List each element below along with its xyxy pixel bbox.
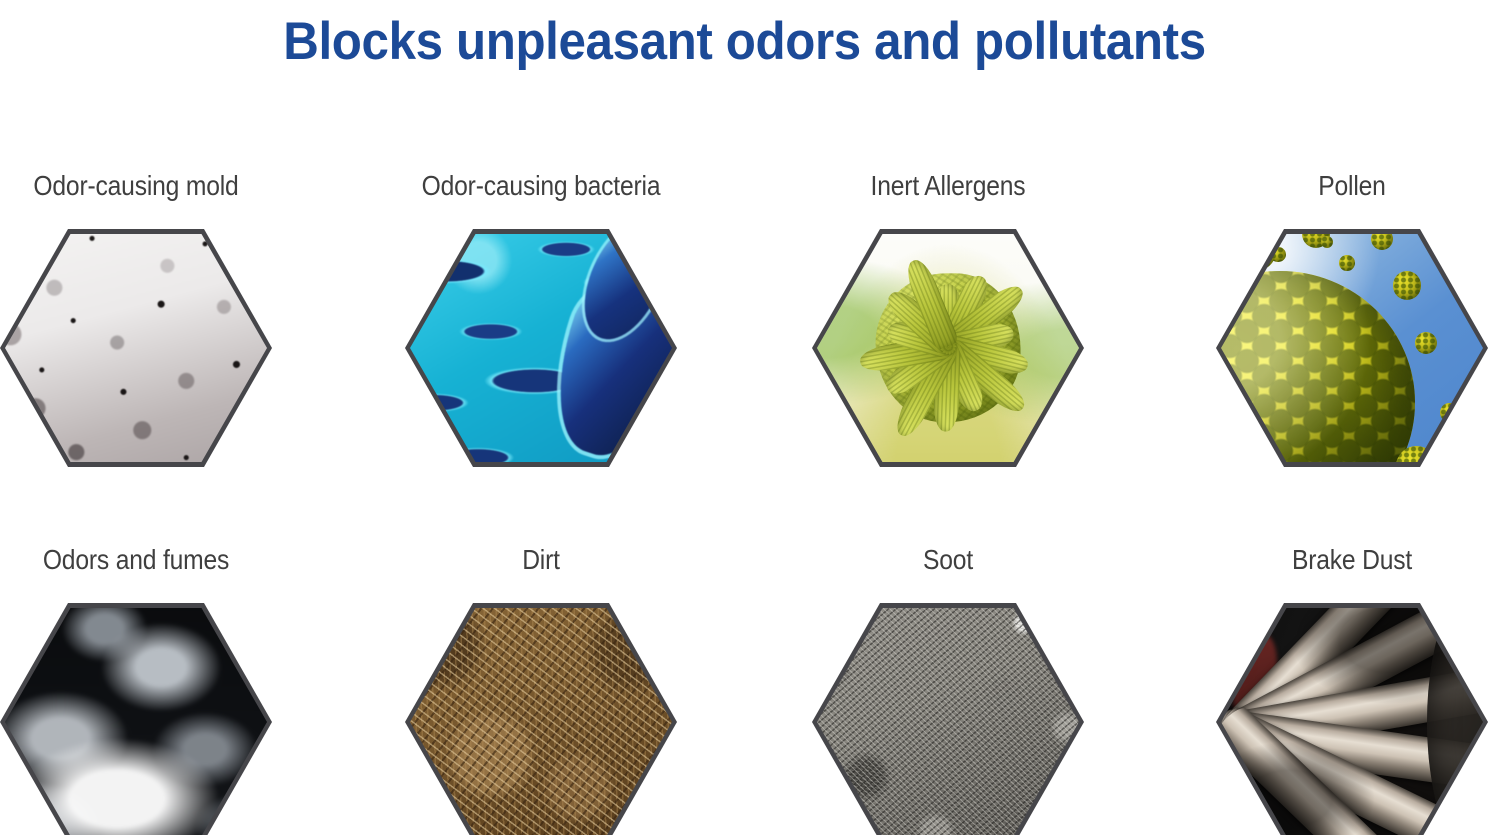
pollutant-label: Pollen	[1232, 170, 1471, 202]
pollen-grain	[1221, 271, 1415, 462]
pollen-spore	[1339, 255, 1355, 271]
smoke-texture-icon	[5, 608, 267, 835]
pollutant-label: Inert Allergens	[828, 170, 1067, 202]
bacteria-texture-icon	[410, 234, 672, 462]
pollutant-card-inert-allergens[interactable]: Inert Allergens	[812, 170, 1084, 467]
hexagon-tile	[0, 603, 272, 835]
pollen-spore	[1321, 236, 1334, 249]
pollutant-label: Soot	[828, 544, 1067, 576]
pollen-spore	[1371, 234, 1393, 250]
pollutant-card-pollen[interactable]: Pollen	[1216, 170, 1488, 467]
pollutant-label: Brake Dust	[1232, 544, 1471, 576]
pollutant-card-odor-causing-mold[interactable]: Odor-causing mold	[0, 170, 272, 467]
hexagon-image-clip	[5, 608, 267, 835]
pollen-spore	[1478, 364, 1483, 395]
pollutant-card-brake-dust[interactable]: Brake Dust	[1216, 544, 1488, 835]
pollutant-card-soot[interactable]: Soot	[812, 544, 1084, 835]
hexagon-image-clip	[410, 608, 672, 835]
allergen-particle	[851, 252, 1046, 444]
pollutant-label: Dirt	[421, 544, 660, 576]
hexagon-tile	[0, 229, 272, 467]
allergen-texture-icon	[817, 234, 1079, 462]
hexagon-tile	[1216, 603, 1488, 835]
pollutant-row-1: Odor-causing mold Odor-causing bacteria	[0, 170, 1489, 470]
dirt-texture-icon	[410, 608, 672, 835]
hexagon-tile	[1216, 229, 1488, 467]
hexagon-tile	[405, 603, 677, 835]
hexagon-tile	[812, 229, 1084, 467]
brake-dust-texture-icon	[1221, 608, 1483, 835]
hexagon-image-clip	[817, 234, 1079, 462]
pollutant-card-odor-causing-bacteria[interactable]: Odor-causing bacteria	[405, 170, 677, 467]
hexagon-image-clip	[1221, 608, 1483, 835]
hexagon-tile	[812, 603, 1084, 835]
pollutant-label: Odors and fumes	[16, 544, 255, 576]
pollutant-label: Odor-causing mold	[16, 170, 255, 202]
infographic-panel: Blocks unpleasant odors and pollutants O…	[0, 0, 1489, 835]
page-title: Blocks unpleasant odors and pollutants	[52, 0, 1437, 84]
hexagon-image-clip	[817, 608, 1079, 835]
hexagon-image-clip	[1221, 234, 1483, 462]
brake-grime-overlay	[1221, 608, 1483, 835]
pollutant-card-dirt[interactable]: Dirt	[405, 544, 677, 835]
pollen-shading	[1221, 271, 1415, 462]
pollen-spore	[1393, 271, 1421, 299]
mold-texture-icon	[5, 234, 267, 462]
pollen-texture-icon	[1221, 234, 1483, 462]
hexagon-tile	[405, 229, 677, 467]
pollutant-row-2: Odors and fumes Dirt Soot	[0, 544, 1489, 835]
pollutant-card-odors-and-fumes[interactable]: Odors and fumes	[0, 544, 272, 835]
pollen-spore	[1229, 234, 1276, 272]
soot-texture-icon	[817, 608, 1079, 835]
hexagon-image-clip	[5, 234, 267, 462]
hexagon-image-clip	[410, 234, 672, 462]
pollen-spore	[1415, 332, 1437, 354]
pollutant-label: Odor-causing bacteria	[421, 170, 660, 202]
